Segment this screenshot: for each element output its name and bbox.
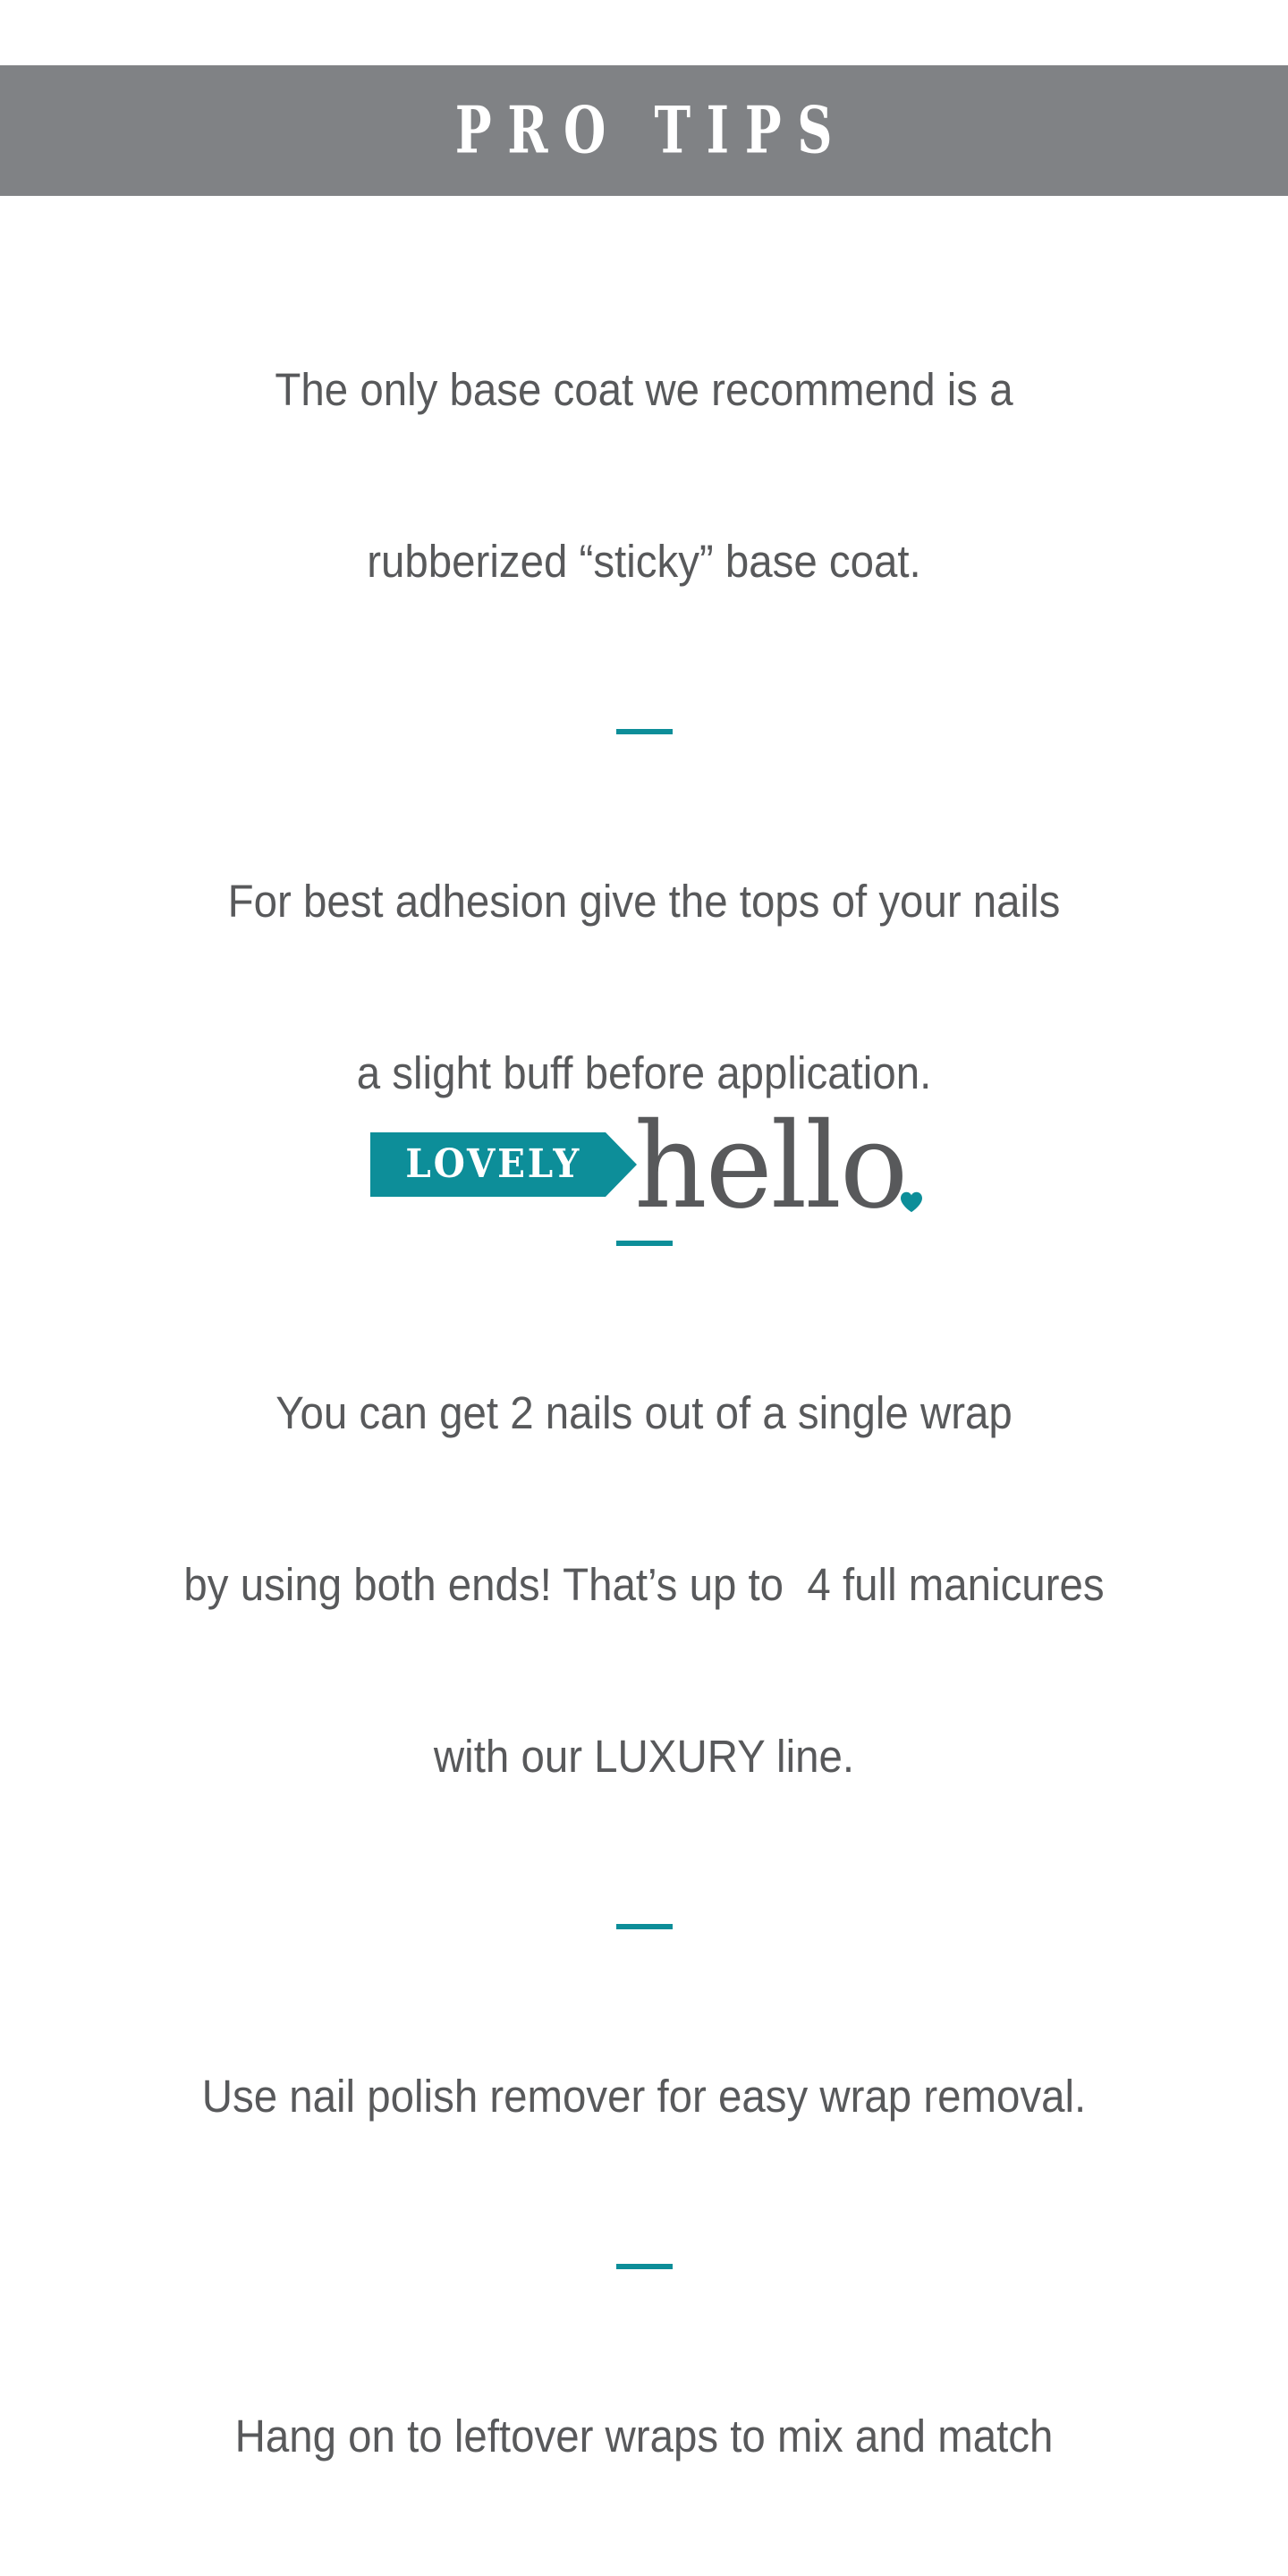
divider xyxy=(616,1241,673,1246)
tip-two-nails-per-wrap: You can get 2 nails out of a single wrap… xyxy=(162,1270,1127,1900)
logo-inner: LOVELY hello xyxy=(370,1116,918,1218)
divider xyxy=(616,729,673,734)
lovely-badge: LOVELY xyxy=(370,1132,606,1197)
divider xyxy=(616,2264,673,2269)
tip-line: The only base coat we recommend is a xyxy=(162,361,1127,419)
page-title: PRO TIPS xyxy=(440,98,849,163)
tip-line: For best adhesion give the tops of your … xyxy=(162,873,1127,930)
tip-line: Use nail polish remover for easy wrap re… xyxy=(162,2068,1127,2125)
hello-wordmark-wrap: hello xyxy=(634,1116,918,1218)
lovely-badge-label: LOVELY xyxy=(403,1145,581,1184)
tip-line: You can get 2 nails out of a single wrap xyxy=(162,1385,1127,1442)
tip-leftover-wraps: Hang on to leftover wraps to mix and mat… xyxy=(162,2293,1127,2576)
tip-line: Hang on to leftover wraps to mix and mat… xyxy=(162,2408,1127,2465)
tip-polish-remover: Use nail polish remover for easy wrap re… xyxy=(162,1953,1127,2240)
tip-line: rubberized “sticky” base coat. xyxy=(162,533,1127,590)
tip-line: a slight buff before application. xyxy=(162,1045,1127,1102)
tip-line: with our LUXURY line. xyxy=(162,1728,1127,1785)
header-banner: PRO TIPS xyxy=(0,65,1288,196)
tips-list: The only base coat we recommend is a rub… xyxy=(0,247,1288,2576)
pro-tips-page: PRO TIPS The only base coat we recommend… xyxy=(0,0,1288,1288)
tip-line: by using both ends! That’s up to 4 full … xyxy=(162,1556,1127,1614)
hello-wordmark: hello xyxy=(634,1116,906,1218)
divider xyxy=(616,1924,673,1929)
tip-base-coat: The only base coat we recommend is a rub… xyxy=(162,247,1127,705)
brand-logo: LOVELY hello xyxy=(0,1116,1288,1218)
